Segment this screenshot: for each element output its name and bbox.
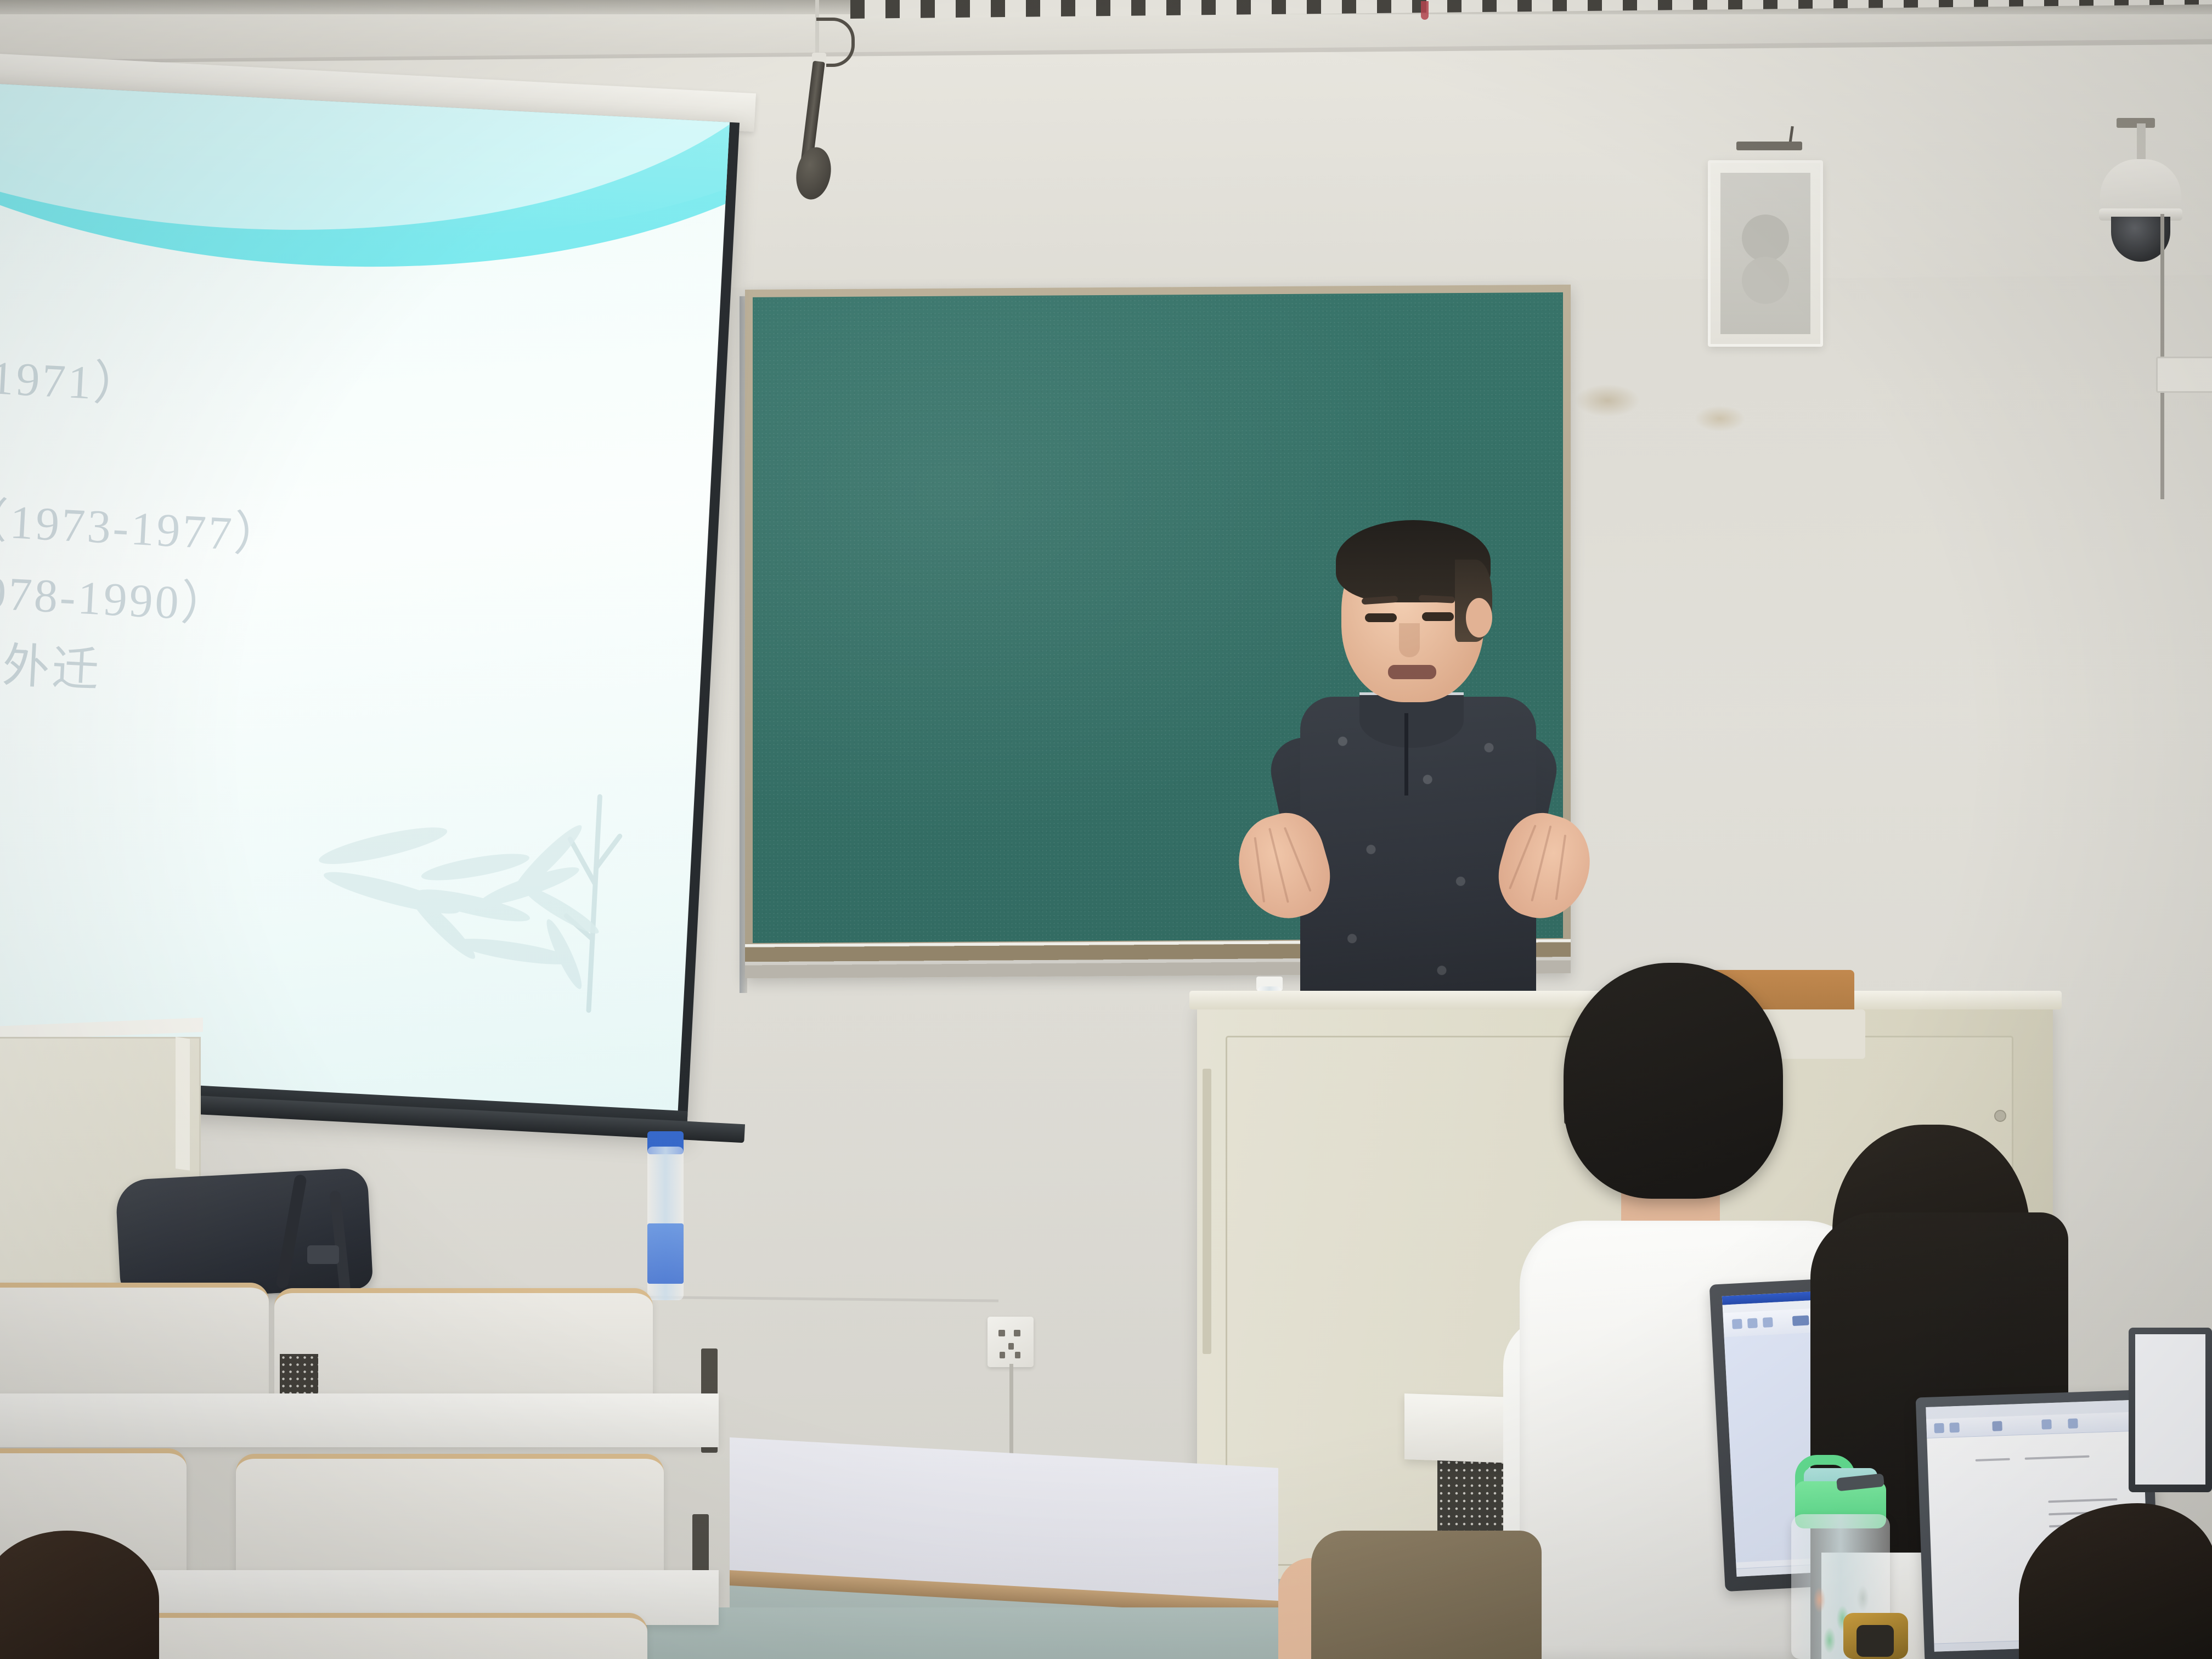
instructor-mouth [1388,665,1436,679]
projection-screen: 查阶段（1970-1971） 步阶段（1972） 众性会战阶段（1973-197… [0,82,740,1136]
wall-stain [1695,406,1745,431]
laptop-far-right[interactable] [2129,1328,2212,1492]
bamboo-watermark-icon [303,760,667,1036]
left-cabinet-edge [176,1037,190,1171]
desk-row [0,1393,719,1447]
instructor-placket [1404,713,1408,795]
camera-mount-bracket [2117,118,2155,128]
lecture-seat[interactable] [132,1613,647,1659]
projected-slide: 查阶段（1970-1971） 步阶段（1972） 众性会战阶段（1973-197… [0,83,730,1112]
wall-speaker [1708,160,1823,347]
student-lower-center-sleeve [1311,1531,1542,1659]
speaker-cone [1742,215,1789,262]
wall-junction-box [2156,357,2212,393]
speaker-grill [1720,173,1810,334]
classroom-photo-scene: 查阶段（1970-1971） 步阶段（1972） 众性会战阶段（1973-197… [0,0,2212,1659]
water-bottle-label [647,1223,684,1284]
ceiling-red-marker [1421,1,1429,20]
podium-screw [1994,1110,2006,1122]
microphone-capsule-icon [792,144,835,202]
speaker-cone [1742,257,1789,304]
instructor-ear [1466,598,1492,637]
hanging-microphone [785,0,905,230]
laptop-far-right-screen [2135,1334,2205,1485]
speaker-bracket [1736,142,1802,150]
wall-power-outlet[interactable] [988,1317,1034,1367]
instructor-eye [1365,613,1397,622]
instructor [1218,516,1602,1009]
slide-bullet-list: 查阶段（1970-1971） 步阶段（1972） 众性会战阶段（1973-197… [0,325,715,738]
podium-side-gap [1203,1069,1211,1354]
instructor-eye [1422,612,1454,621]
student-front-center-head [1564,963,1783,1199]
wall-stain [1575,384,1640,417]
backpack-buckle [307,1245,339,1264]
instructor-nose [1399,623,1420,657]
watch-face [1857,1625,1894,1657]
power-cord [1009,1364,1013,1468]
